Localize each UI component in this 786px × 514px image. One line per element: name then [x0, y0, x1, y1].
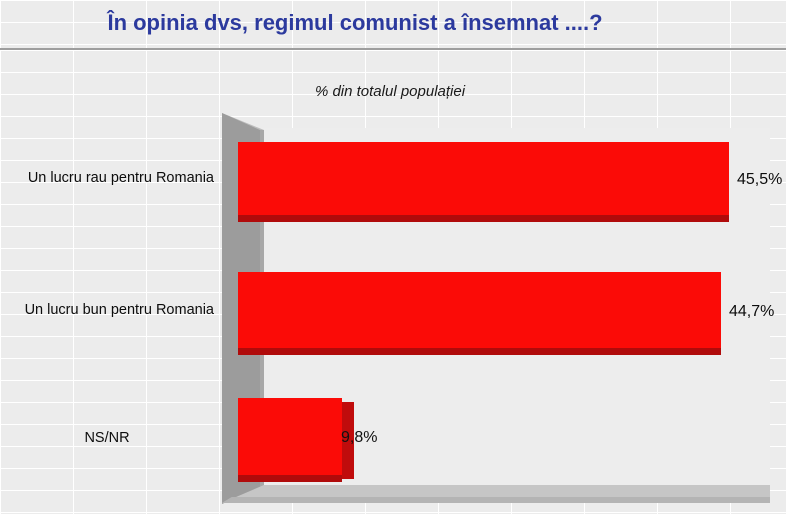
bar-row-2-shadow [238, 475, 342, 482]
chart-screenshot: În opinia dvs, regimul comunist a însemn… [0, 0, 786, 514]
bar-row-0 [238, 142, 729, 215]
bar-row-1-shadow [238, 348, 721, 355]
category-label-2: NS/NR [0, 428, 214, 448]
bar-row-0-shadow [238, 215, 729, 222]
chart-subtitle: % din totalul populației [210, 80, 570, 102]
category-label-0: Un lucru rau pentru Romania [0, 168, 214, 188]
value-label-0: 45,5% [737, 170, 786, 190]
page-title: În opinia dvs, regimul comunist a însemn… [0, 5, 710, 41]
value-label-2: 9,8% [341, 428, 411, 448]
value-label-1: 44,7% [729, 302, 786, 322]
bar-row-1 [238, 272, 721, 348]
category-label-1: Un lucru bun pentru Romania [0, 300, 214, 320]
bar-row-2 [238, 398, 342, 475]
